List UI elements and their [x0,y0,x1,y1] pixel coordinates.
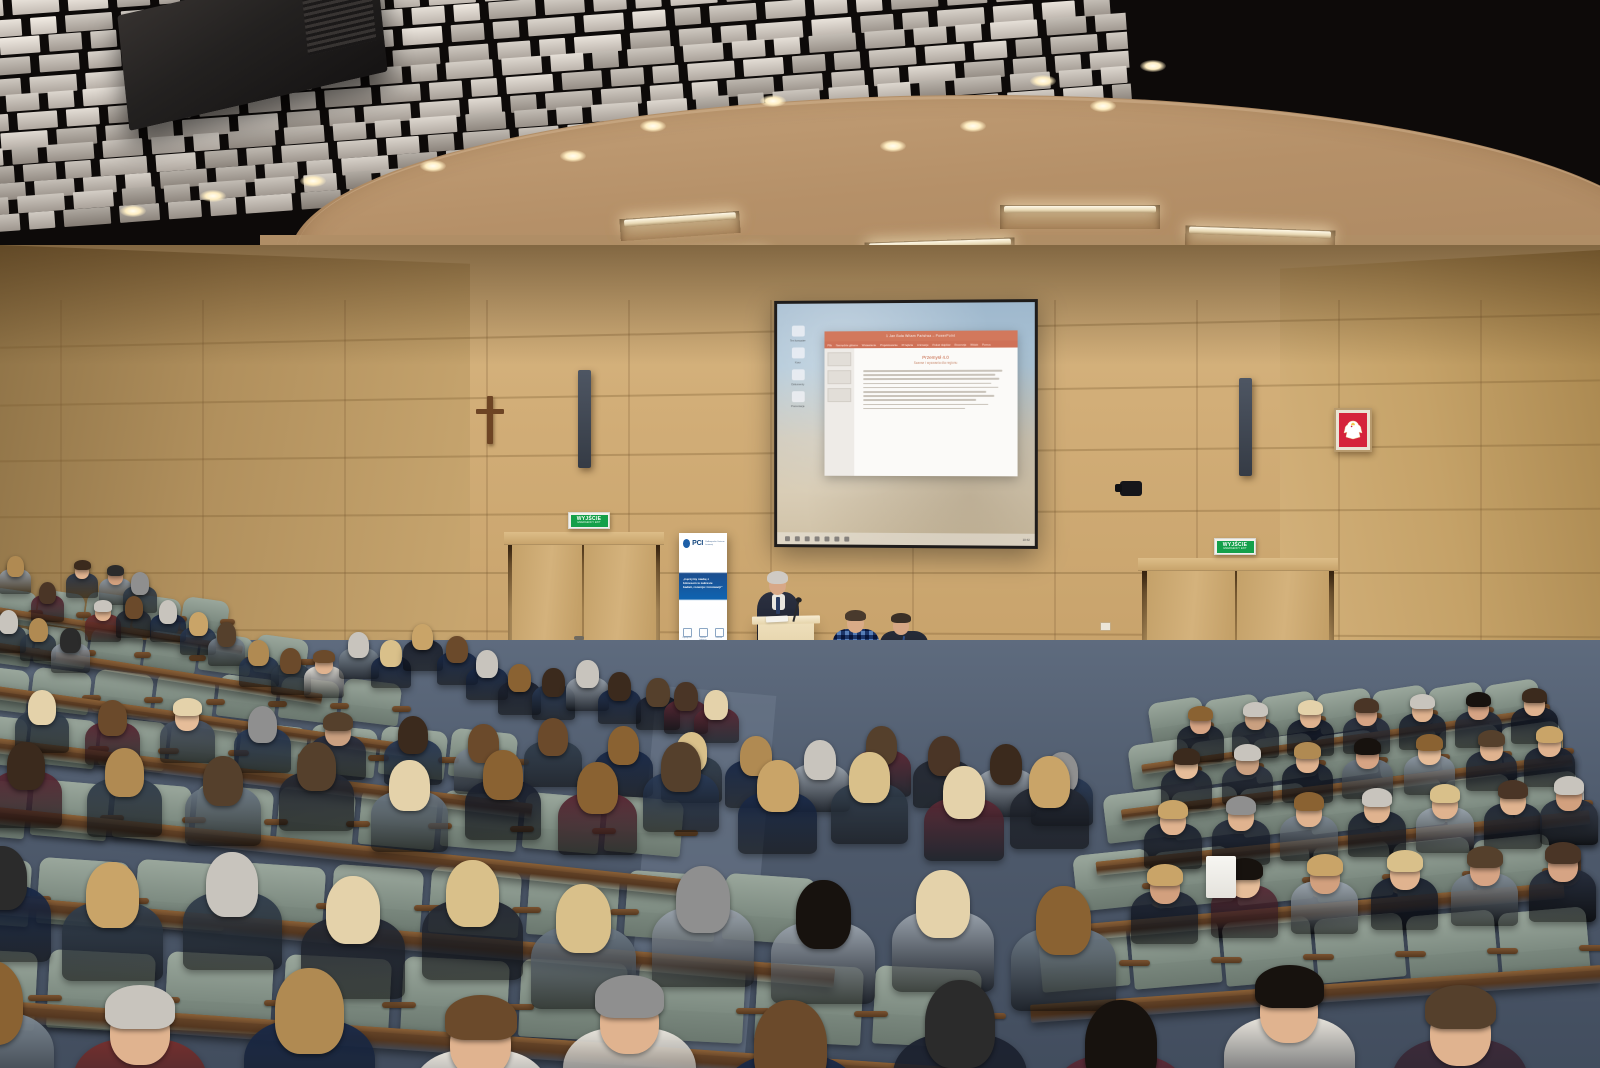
audience-hair [1294,742,1321,759]
audience-hair [1173,748,1200,765]
audience-hair [280,648,301,674]
seat-armrest [1395,951,1426,957]
ceiling-downlight [420,160,446,172]
audience-hair [1416,734,1443,751]
ceiling-downlight [120,205,146,217]
audience-hair [173,698,202,716]
audience-hair [483,750,523,800]
ceiling-downlight [1030,75,1056,87]
audience-hair [323,712,353,731]
audience-hair [1545,842,1580,864]
ceiling-downlight [1140,60,1166,72]
audience-hair [74,560,91,570]
audience-hair [248,706,278,743]
audience-hair [125,596,143,619]
seat-armrest [189,655,206,661]
audience-hair [60,628,80,653]
audience-hair [757,760,799,812]
audience-hair [661,742,701,792]
audience-hair [1536,726,1563,743]
audience-hair [446,636,468,663]
seat-armrest [854,1011,888,1017]
seat-armrest [1211,957,1242,963]
seat-armrest [268,701,287,707]
audience-hair [1354,738,1381,755]
audience-hair [542,668,565,697]
audience-hair [476,650,498,678]
audience-hair [412,624,433,650]
audience-hair [94,600,113,612]
audience-hair [105,985,176,1029]
audience-hair [796,880,851,949]
audience-hair [189,612,208,636]
audience-hair [916,870,970,938]
seat-armrest [330,703,349,709]
audience-hair [326,876,381,944]
audience-hair [98,700,127,736]
audience-hair [248,640,269,666]
audience-hair [556,884,611,953]
ceiling-downlight [300,175,326,187]
audience-hair [348,632,369,658]
audience-hair [203,756,243,806]
audience-hair [105,748,144,797]
audience-hair [1188,706,1213,721]
audience-hair [1234,744,1261,761]
audience-hair [313,650,334,663]
audience-hair [704,690,728,720]
audience-hair [676,866,730,933]
audience-hair [131,572,149,595]
audience-hair [1147,864,1182,886]
audience-hair [1298,700,1323,715]
audience-hair [804,740,836,780]
audience-hair [1478,730,1505,747]
audience-hair [1467,846,1502,868]
ceiling-downlight [960,120,986,132]
seat-armrest [144,697,163,703]
ceiling-downlight [640,120,666,132]
seat-armrest [1487,948,1518,954]
audience-hair [1554,776,1584,795]
ceiling-downlight [1090,100,1116,112]
audience-hair [1425,985,1496,1029]
audience-hair [398,716,428,754]
audience-hair [1158,800,1188,819]
audience-hair [28,690,56,725]
audience-hair [0,846,27,910]
seat-armrest [382,1002,416,1008]
seat-armrest [610,909,639,915]
audience-hair [1362,788,1392,807]
seat-armrest [1303,954,1334,960]
audience-hair [445,995,517,1040]
audience-hair [275,968,344,1054]
audience-hair [297,742,336,791]
audience-hair [1255,965,1324,1008]
seat-armrest [1579,945,1600,951]
audience-hair [674,682,697,711]
audience-hair [217,622,237,647]
audience-hair [1522,688,1547,703]
audience-hair [576,660,598,688]
audience-hair [925,980,996,1068]
audience-hair [107,565,125,576]
audience-hair [159,600,178,624]
audience-hair [1430,784,1460,803]
seat-armrest [206,699,225,705]
audience-hair [39,582,57,604]
audience-hair [990,744,1022,785]
seat-armrest [134,652,151,658]
audience-hair [608,672,631,701]
audience-hair [1410,694,1435,709]
audience-hair [943,766,985,819]
audience-hair [1307,854,1342,876]
audience-hair [1243,702,1268,717]
audience-hair [1466,692,1491,707]
audience-hair [7,556,24,577]
auditorium-photo: Ten komputer Kosz Dokumenty Prezentacje … [0,0,1600,1068]
seat-armrest [392,706,411,712]
audience-hair [29,618,48,642]
audience-hair [538,718,568,756]
audience-hair [577,762,618,814]
audience-hair [86,862,139,928]
audience-hair [446,860,499,927]
audience-hair [206,852,258,917]
audience-hair [1294,792,1324,811]
seat-armrest [28,995,62,1001]
audience-hair [389,760,430,811]
ceiling-downlight [200,190,226,202]
audience-hair [508,664,530,692]
seat-armrest [1119,960,1150,966]
ceiling-downlight [560,150,586,162]
audience-hair [1498,780,1528,799]
audience-hair [595,975,665,1018]
audience-hair [608,726,639,765]
audience-hair [7,742,45,790]
audience-hair [1029,756,1070,808]
paper-bag [1206,856,1236,898]
audience-hair [646,678,669,707]
audience-hair [849,752,890,803]
audience-hair [1226,796,1256,815]
audience-hair [1354,698,1379,713]
ceiling-downlight [880,140,906,152]
audience-hair [0,610,18,634]
audience-hair [380,640,401,667]
audience-hair [1387,850,1422,872]
ceiling-downlight [760,95,786,107]
audience-hair [1036,886,1091,955]
